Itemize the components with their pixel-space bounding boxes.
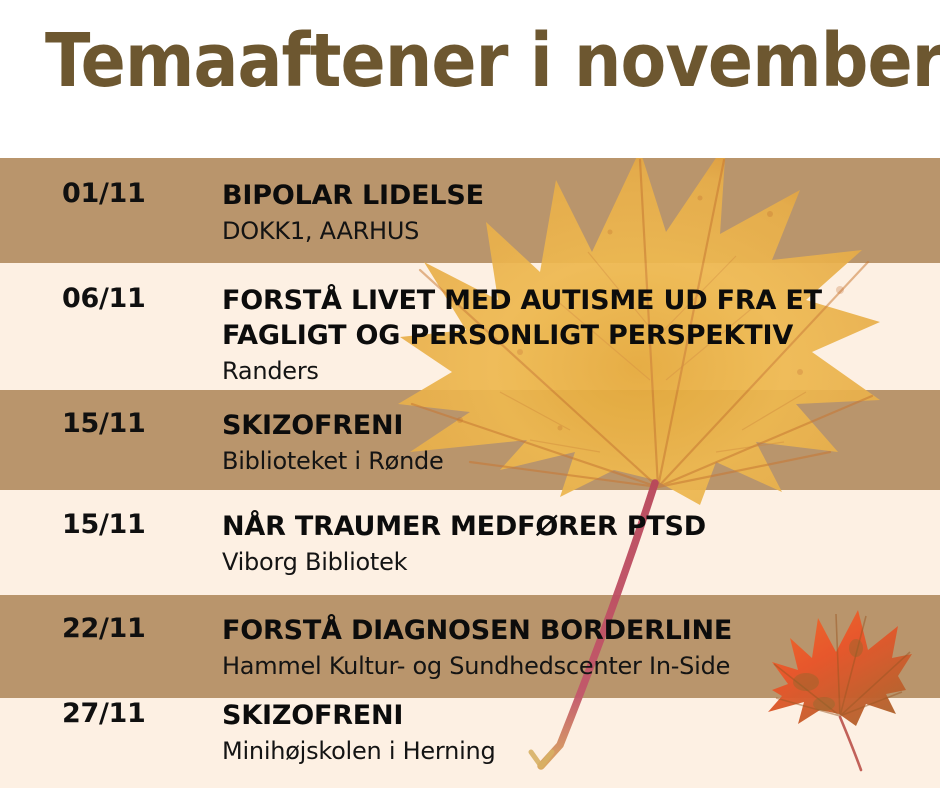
- event-venue: Hammel Kultur- og Sundhedscenter In-Side: [222, 651, 940, 682]
- event-title: FORSTÅ LIVET MED AUTISME UD FRA ET FAGLI…: [222, 283, 940, 353]
- event-body: FORSTÅ DIAGNOSEN BORDERLINE Hammel Kultu…: [162, 613, 940, 682]
- event-title: SKIZOFRENI: [222, 408, 940, 443]
- schedule-row-4[interactable]: 15/11 NÅR TRAUMER MEDFØRER PTSD Viborg B…: [0, 509, 940, 578]
- event-date: 22/11: [0, 613, 162, 645]
- event-body: SKIZOFRENI Biblioteket i Rønde: [162, 408, 940, 477]
- event-date: 15/11: [0, 509, 162, 541]
- schedule-row-2[interactable]: 06/11 FORSTÅ LIVET MED AUTISME UD FRA ET…: [0, 283, 940, 387]
- event-venue: DOKK1, AARHUS: [222, 216, 940, 247]
- event-title: NÅR TRAUMER MEDFØRER PTSD: [222, 509, 940, 544]
- event-date: 01/11: [0, 178, 162, 210]
- event-title: BIPOLAR LIDELSE: [222, 178, 940, 213]
- event-body: NÅR TRAUMER MEDFØRER PTSD Viborg Bibliot…: [162, 509, 940, 578]
- poster-header: Temaaftener i november: [0, 0, 940, 158]
- event-venue: Minihøjskolen i Herning: [222, 736, 940, 767]
- event-date: 06/11: [0, 283, 162, 315]
- page-title: Temaaftener i november: [45, 22, 940, 102]
- schedule-row-5[interactable]: 22/11 FORSTÅ DIAGNOSEN BORDERLINE Hammel…: [0, 613, 940, 682]
- event-body: SKIZOFRENI Minihøjskolen i Herning: [162, 698, 940, 767]
- event-venue: Biblioteket i Rønde: [222, 446, 940, 477]
- event-body: FORSTÅ LIVET MED AUTISME UD FRA ET FAGLI…: [162, 283, 940, 387]
- event-date: 15/11: [0, 408, 162, 440]
- schedule-row-1[interactable]: 01/11 BIPOLAR LIDELSE DOKK1, AARHUS: [0, 178, 940, 247]
- poster-canvas: Temaaftener i november 01/11 BIPOLAR LID…: [0, 0, 940, 788]
- event-venue: Viborg Bibliotek: [222, 547, 940, 578]
- event-title: SKIZOFRENI: [222, 698, 940, 733]
- event-date: 27/11: [0, 698, 162, 730]
- schedule-row-6[interactable]: 27/11 SKIZOFRENI Minihøjskolen i Herning: [0, 698, 940, 767]
- event-title: FORSTÅ DIAGNOSEN BORDERLINE: [222, 613, 940, 648]
- event-body: BIPOLAR LIDELSE DOKK1, AARHUS: [162, 178, 940, 247]
- event-venue: Randers: [222, 356, 940, 387]
- schedule-row-3[interactable]: 15/11 SKIZOFRENI Biblioteket i Rønde: [0, 408, 940, 477]
